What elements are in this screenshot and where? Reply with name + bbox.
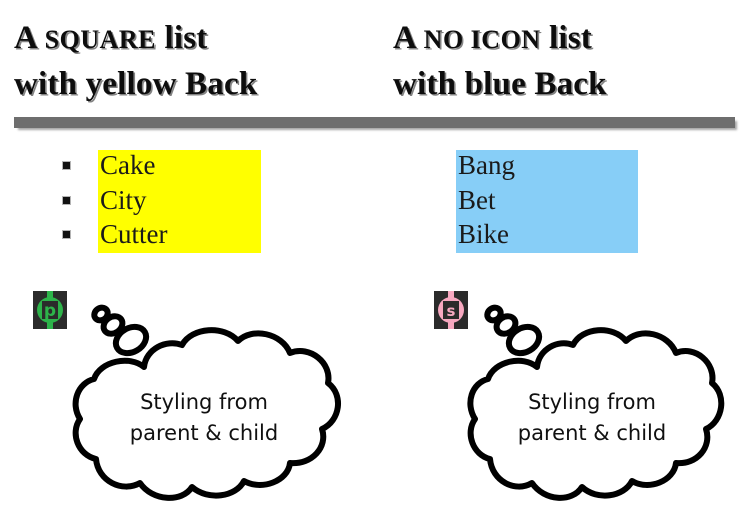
slide-canvas: A SQUARE list with yellow Back A NO ICON…	[0, 0, 745, 519]
square-bullet-icon	[62, 230, 71, 239]
list-item[interactable]: Cutter	[62, 217, 168, 252]
heading-right-line2: with blue Back	[393, 62, 607, 107]
list-item[interactable]: Bet	[456, 183, 515, 218]
heading-left-smallcaps: SQUARE	[45, 25, 156, 54]
list-item[interactable]: Cake	[62, 148, 168, 183]
bubble-text-right: Styling from parent & child	[482, 387, 702, 449]
square-bullet-icon	[62, 196, 71, 205]
list-item-label: Bang	[456, 148, 515, 183]
horizontal-rule	[14, 117, 735, 128]
thought-bubble-left: Styling from parent & child	[56, 295, 376, 517]
heading-right-smallcaps: NO ICON	[424, 25, 541, 54]
heading-right-line1: A NO ICON list	[393, 20, 592, 56]
bubble-line-2: parent & child	[94, 418, 314, 449]
heading-left-line1: A SQUARE list	[14, 20, 207, 56]
list-item-label: Bet	[456, 183, 496, 218]
no-icon-list: Bang Bet Bike	[456, 148, 515, 252]
svg-text:p: p	[44, 301, 56, 321]
thought-bubble-right: Styling from parent & child	[452, 295, 745, 517]
list-block-right: Bang Bet Bike	[456, 148, 515, 252]
list-block-left: Cake City Cutter	[62, 148, 168, 252]
square-bullet-icon	[62, 161, 71, 170]
page-title-right: A NO ICON list with blue Back	[393, 16, 607, 107]
page-title-left: A SQUARE list with yellow Back	[14, 16, 257, 107]
list-item[interactable]: Bang	[456, 148, 515, 183]
bubble-line-1: Styling from	[482, 387, 702, 418]
list-item-label: Bike	[456, 217, 509, 252]
list-item[interactable]: Bike	[456, 217, 515, 252]
bubble-line-1: Styling from	[94, 387, 314, 418]
list-item-label: Cake	[98, 148, 155, 183]
bubble-text-left: Styling from parent & child	[94, 387, 314, 449]
list-item-label: Cutter	[98, 217, 168, 252]
bubble-line-2: parent & child	[482, 418, 702, 449]
list-item[interactable]: City	[62, 183, 168, 218]
square-bullet-list: Cake City Cutter	[62, 148, 168, 252]
heading-left-line2: with yellow Back	[14, 62, 257, 107]
list-item-label: City	[98, 183, 147, 218]
